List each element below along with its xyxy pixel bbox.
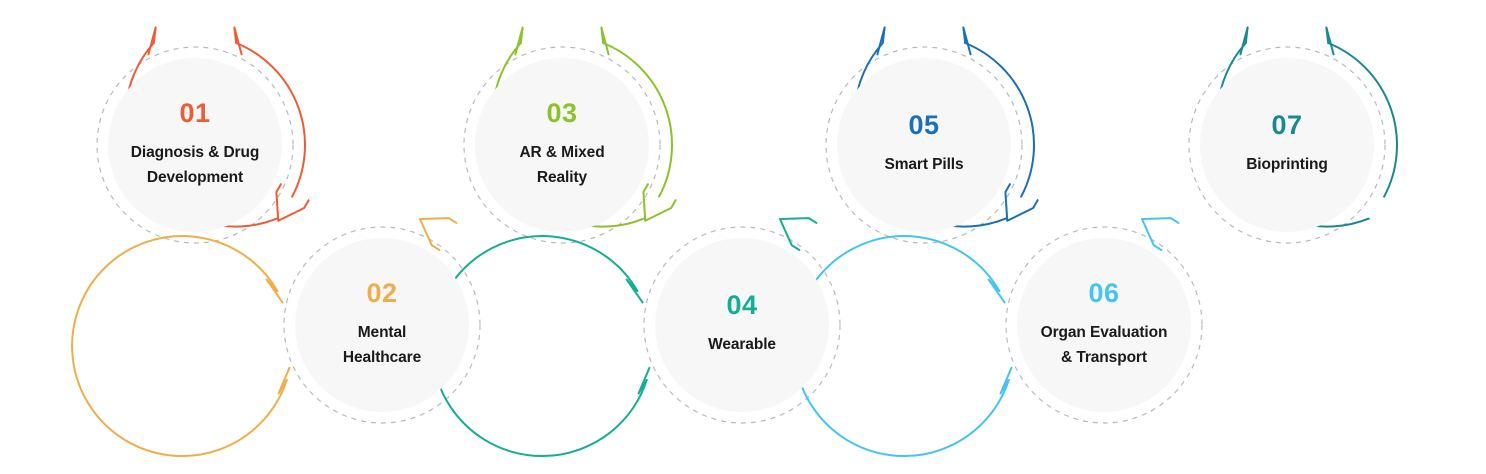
node-label-05: Smart Pills <box>878 152 969 177</box>
arc-tail-02-bottomleft <box>267 280 283 303</box>
node-02[interactable]: 02Mental Healthcare <box>295 238 469 412</box>
node-04[interactable]: 04Wearable <box>655 238 829 412</box>
node-label-06: Organ Evaluation & Transport <box>1035 320 1174 370</box>
node-01[interactable]: 01Diagnosis & Drug Development <box>108 58 282 232</box>
node-number-06: 06 <box>1088 280 1119 307</box>
arc-main-02 <box>72 236 287 456</box>
arc-tail-04-bottomleft <box>627 280 643 303</box>
arc-tail-05-left <box>877 27 884 54</box>
node-number-02: 02 <box>366 280 397 307</box>
node-label-02: Mental Healthcare <box>337 320 427 370</box>
arc-arrowhead-01 <box>276 184 308 221</box>
arc-tail-01-left <box>148 27 155 54</box>
arc-tail-01-right <box>234 27 241 54</box>
arc-tail-05-right <box>963 27 970 54</box>
node-06[interactable]: 06Organ Evaluation & Transport <box>1017 238 1191 412</box>
node-03[interactable]: 03AR & Mixed Reality <box>475 58 649 232</box>
node-07[interactable]: 07Bioprinting <box>1200 58 1374 232</box>
arc-arrowhead-03 <box>643 184 675 221</box>
process-diagram: 01Diagnosis & Drug Development02Mental H… <box>0 0 1486 474</box>
node-label-07: Bioprinting <box>1240 152 1334 177</box>
arc-tail-03-left <box>515 27 522 54</box>
node-label-04: Wearable <box>702 332 782 357</box>
arc-tail-07-right <box>1326 27 1333 54</box>
node-05[interactable]: 05Smart Pills <box>837 58 1011 232</box>
node-label-01: Diagnosis & Drug Development <box>125 140 265 190</box>
node-number-04: 04 <box>726 292 757 319</box>
arc-tail-07-left <box>1240 27 1247 54</box>
arc-tail-03-right <box>601 27 608 54</box>
arc-tail-06-bottomleft <box>989 280 1005 303</box>
node-number-01: 01 <box>179 100 210 127</box>
node-label-03: AR & Mixed Reality <box>513 140 610 190</box>
arc-arrowhead-05 <box>1005 184 1037 221</box>
node-number-07: 07 <box>1271 112 1302 139</box>
node-number-03: 03 <box>546 100 577 127</box>
node-number-05: 05 <box>908 112 939 139</box>
